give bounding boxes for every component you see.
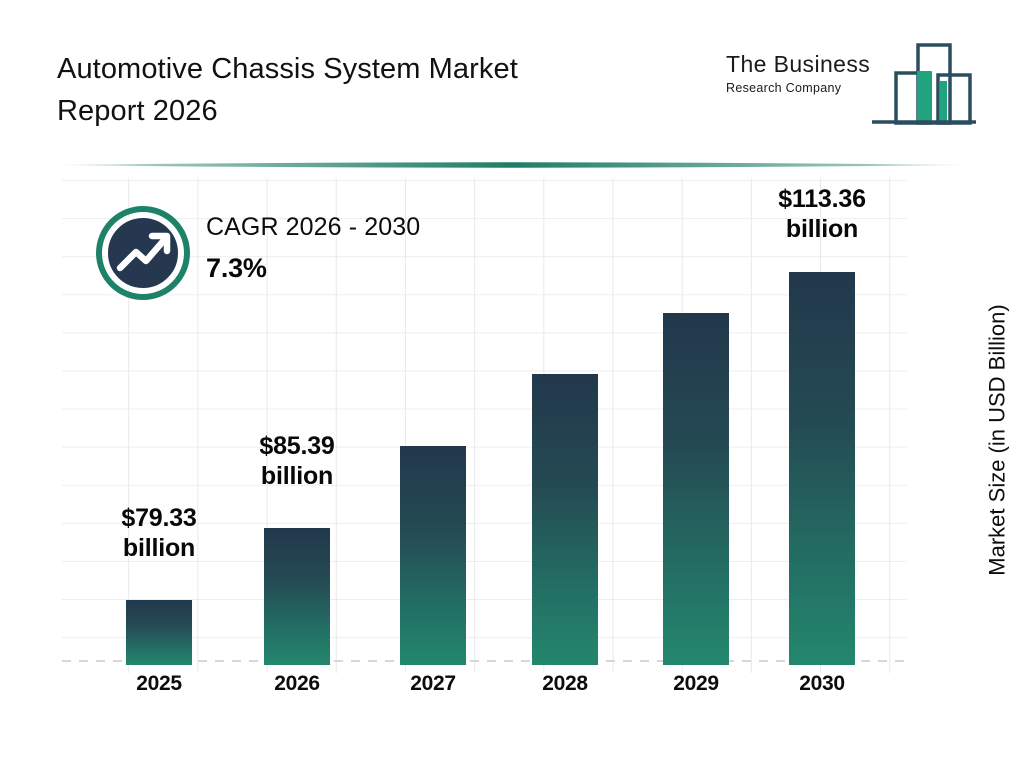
- bar-value-amount-2025: $79.33: [121, 504, 196, 532]
- page-title-line-2: Report 2026: [57, 90, 677, 132]
- bar-2026[interactable]: [264, 528, 330, 665]
- cagr-period-label: CAGR 2026 - 2030: [206, 214, 420, 242]
- y-axis-label: Market Size (in USD Billion): [978, 230, 1018, 650]
- bar-value-label-2030: $113.36 billion: [742, 184, 902, 244]
- bar-value-unit-2026: billion: [217, 461, 377, 491]
- bar-2027[interactable]: [400, 446, 466, 665]
- bar-2029[interactable]: [663, 313, 729, 665]
- trending-up-icon: [96, 206, 190, 300]
- x-tick-2029: 2029: [646, 672, 746, 696]
- x-tick-2027: 2027: [383, 672, 483, 696]
- x-tick-2030: 2030: [772, 672, 872, 696]
- page-title: Automotive Chassis System Market Report …: [57, 48, 677, 132]
- bar-value-unit-2030: billion: [742, 214, 902, 244]
- header: Automotive Chassis System Market Report …: [0, 0, 1024, 160]
- bar-value-amount-2030: $113.36: [778, 185, 866, 213]
- bar-value-amount-2026: $85.39: [259, 432, 334, 460]
- x-tick-2028: 2028: [515, 672, 615, 696]
- bar-value-unit-2025: billion: [79, 533, 239, 563]
- company-logo: The Business Research Company: [726, 33, 976, 128]
- header-divider: [48, 158, 976, 170]
- bar-chart-logo-icon: [854, 33, 976, 125]
- page-title-line-1: Automotive Chassis System Market: [57, 48, 677, 90]
- cagr-value: 7.3%: [206, 254, 420, 284]
- market-size-bar-chart: $79.33 billion $85.39 billion $113.36 bi…: [0, 170, 1024, 768]
- cagr-text-block: CAGR 2026 - 2030 7.3%: [206, 214, 420, 283]
- y-axis-label-text: Market Size (in USD Billion): [985, 304, 1011, 575]
- bar-2028[interactable]: [532, 374, 598, 665]
- cagr-callout: CAGR 2026 - 2030 7.3%: [96, 206, 516, 306]
- bar-2025[interactable]: [126, 600, 192, 665]
- x-tick-2025: 2025: [109, 672, 209, 696]
- bar-value-label-2025: $79.33 billion: [79, 503, 239, 563]
- bar-2030[interactable]: [789, 272, 855, 665]
- x-tick-2026: 2026: [247, 672, 347, 696]
- bar-value-label-2026: $85.39 billion: [217, 431, 377, 491]
